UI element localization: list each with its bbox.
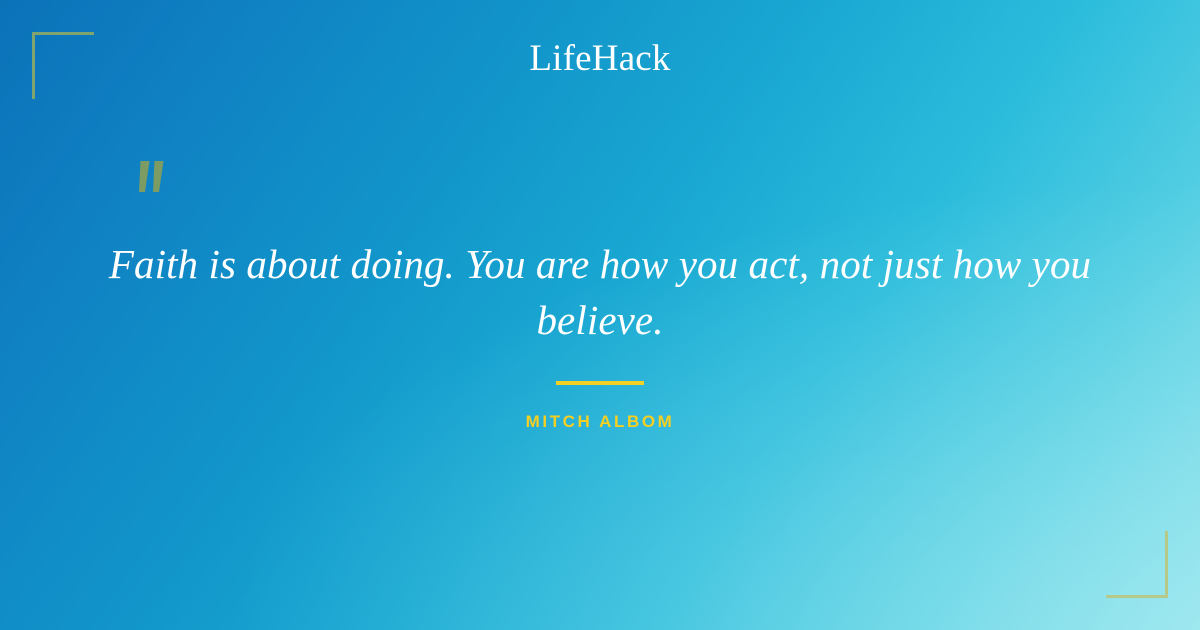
brand-logo: LifeHack: [0, 40, 1200, 77]
quote-block: Faith is about doing. You are how you ac…: [90, 236, 1110, 348]
attribution-author-name: MITCH ALBOM: [0, 412, 1200, 432]
quotation-mark-icon: [130, 155, 190, 215]
quote-card: LifeHack Faith is about doing. You are h…: [0, 0, 1200, 630]
attribution-divider: [556, 381, 644, 385]
quote-text: Faith is about doing. You are how you ac…: [90, 236, 1110, 348]
corner-bracket-bottom-right-icon: [1106, 531, 1168, 598]
attribution: MITCH ALBOM: [0, 381, 1200, 432]
